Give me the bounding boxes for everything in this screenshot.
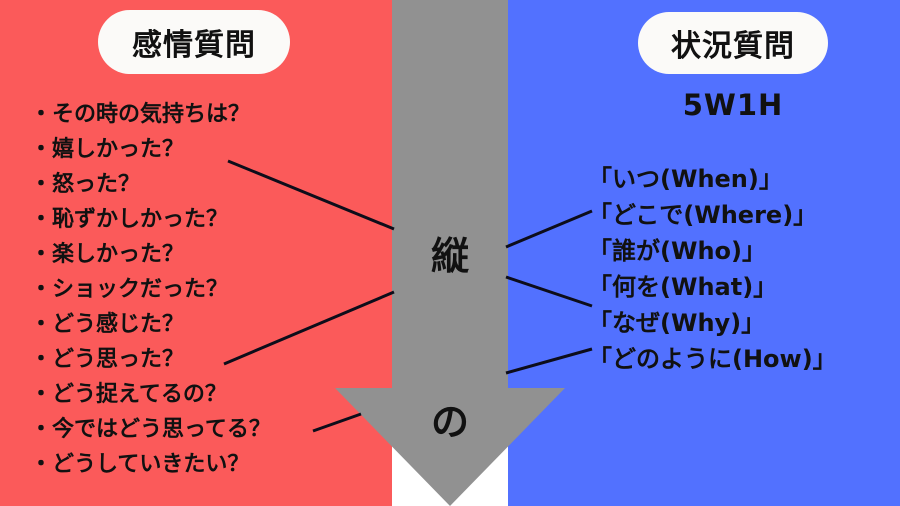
- list-item: ・どうしていきたい？: [30, 447, 271, 482]
- infographic-canvas: 縦 の 質 問 感情質問 状況質問 5W1H ・その時の気持ちは？ ・嬉しかった…: [0, 0, 900, 506]
- list-item: ・怒った？: [30, 167, 271, 202]
- list-item: ・ショックだった？: [30, 272, 271, 307]
- situation-question-list: 「いつ(When)」 「どこで(Where)」 「誰が(Who)」 「何を(Wh…: [588, 161, 837, 377]
- list-item: 「なぜ(Why)」: [588, 305, 837, 341]
- emotion-question-badge-label: 感情質問: [132, 20, 256, 64]
- list-item: ・今ではどう思ってる？: [30, 412, 271, 447]
- list-item: ・どう感じた？: [30, 307, 271, 342]
- emotion-question-list: ・その時の気持ちは？ ・嬉しかった？ ・怒った？ ・恥ずかしかった？ ・楽しかっ…: [30, 97, 271, 482]
- situation-question-badge: 状況質問: [638, 12, 828, 74]
- five-w-one-h-subheading: 5W1H: [638, 88, 828, 122]
- list-item: 「いつ(When)」: [588, 161, 837, 197]
- list-item: 「どこで(Where)」: [588, 197, 837, 233]
- list-item: ・嬉しかった？: [30, 132, 271, 167]
- list-item: ・どう捉えてるの？: [30, 377, 271, 412]
- list-item: 「誰が(Who)」: [588, 233, 837, 269]
- situation-question-badge-label: 状況質問: [671, 21, 795, 65]
- vertical-question-label: 縦 の 質 問: [392, 118, 508, 506]
- list-item: ・どう思った？: [30, 342, 271, 377]
- vertical-label-char-1: 縦: [392, 229, 508, 284]
- list-item: 「何を(What)」: [588, 269, 837, 305]
- list-item: ・楽しかった？: [30, 237, 271, 272]
- emotion-question-badge: 感情質問: [98, 10, 290, 74]
- vertical-label-char-2: の: [392, 395, 508, 450]
- list-item: ・その時の気持ちは？: [30, 97, 271, 132]
- list-item: ・恥ずかしかった？: [30, 202, 271, 237]
- list-item: 「どのように(How)」: [588, 341, 837, 377]
